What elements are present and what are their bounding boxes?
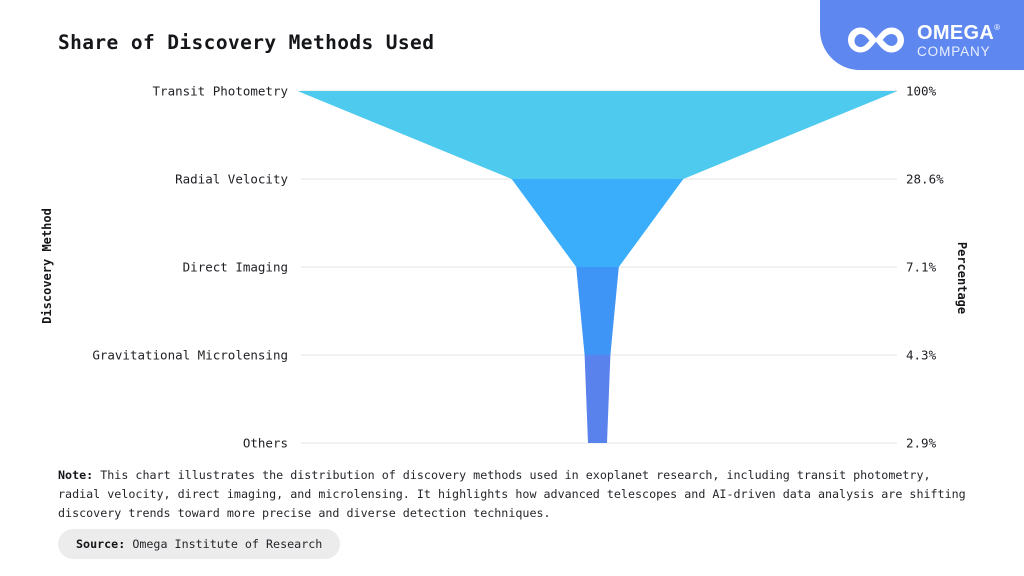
funnel-segment[interactable] (585, 355, 611, 443)
y-axis-title-right: Percentage (955, 242, 969, 314)
note-label: Note: (58, 468, 93, 482)
percentage-label: 28.6% (906, 172, 944, 187)
percentage-label: 100% (906, 84, 936, 99)
registered-trademark-icon: ® (994, 24, 1000, 32)
category-label: Radial Velocity (175, 172, 288, 187)
logo-company-text: COMPANY (917, 45, 1000, 59)
logo-omega-row: OMEGA ® (917, 23, 1000, 43)
chart-page: OMEGA ® COMPANY Share of Discovery Metho… (0, 0, 1024, 576)
source-text: Omega Institute of Research (132, 537, 322, 551)
category-label: Others (243, 436, 288, 451)
note-text: This chart illustrates the distribution … (58, 468, 966, 520)
percentage-label: 4.3% (906, 348, 936, 363)
page-title: Share of Discovery Methods Used (58, 31, 434, 54)
logo-omega-text: OMEGA (917, 23, 994, 43)
company-logo: OMEGA ® COMPANY (820, 0, 1024, 70)
funnel-chart: Transit PhotometryRadial VelocityDirect … (0, 78, 1024, 460)
chart-note: Note: This chart illustrates the distrib… (58, 466, 968, 523)
funnel-segment[interactable] (576, 267, 619, 355)
percentage-label: 2.9% (906, 436, 936, 451)
category-label: Gravitational Microlensing (92, 348, 288, 363)
infinity-icon (844, 23, 908, 57)
category-label: Transit Photometry (153, 84, 288, 99)
funnel-segment[interactable] (512, 179, 684, 267)
source-badge: Source: Omega Institute of Research (58, 529, 340, 559)
logo-inner: OMEGA ® COMPANY (844, 23, 1000, 59)
logo-wordmark: OMEGA ® COMPANY (917, 23, 1000, 59)
y-axis-title-left: Discovery Method (40, 208, 54, 324)
source-label: Source: (76, 537, 125, 551)
category-label: Direct Imaging (183, 260, 288, 275)
funnel-segment[interactable] (298, 91, 898, 179)
percentage-label: 7.1% (906, 260, 936, 275)
